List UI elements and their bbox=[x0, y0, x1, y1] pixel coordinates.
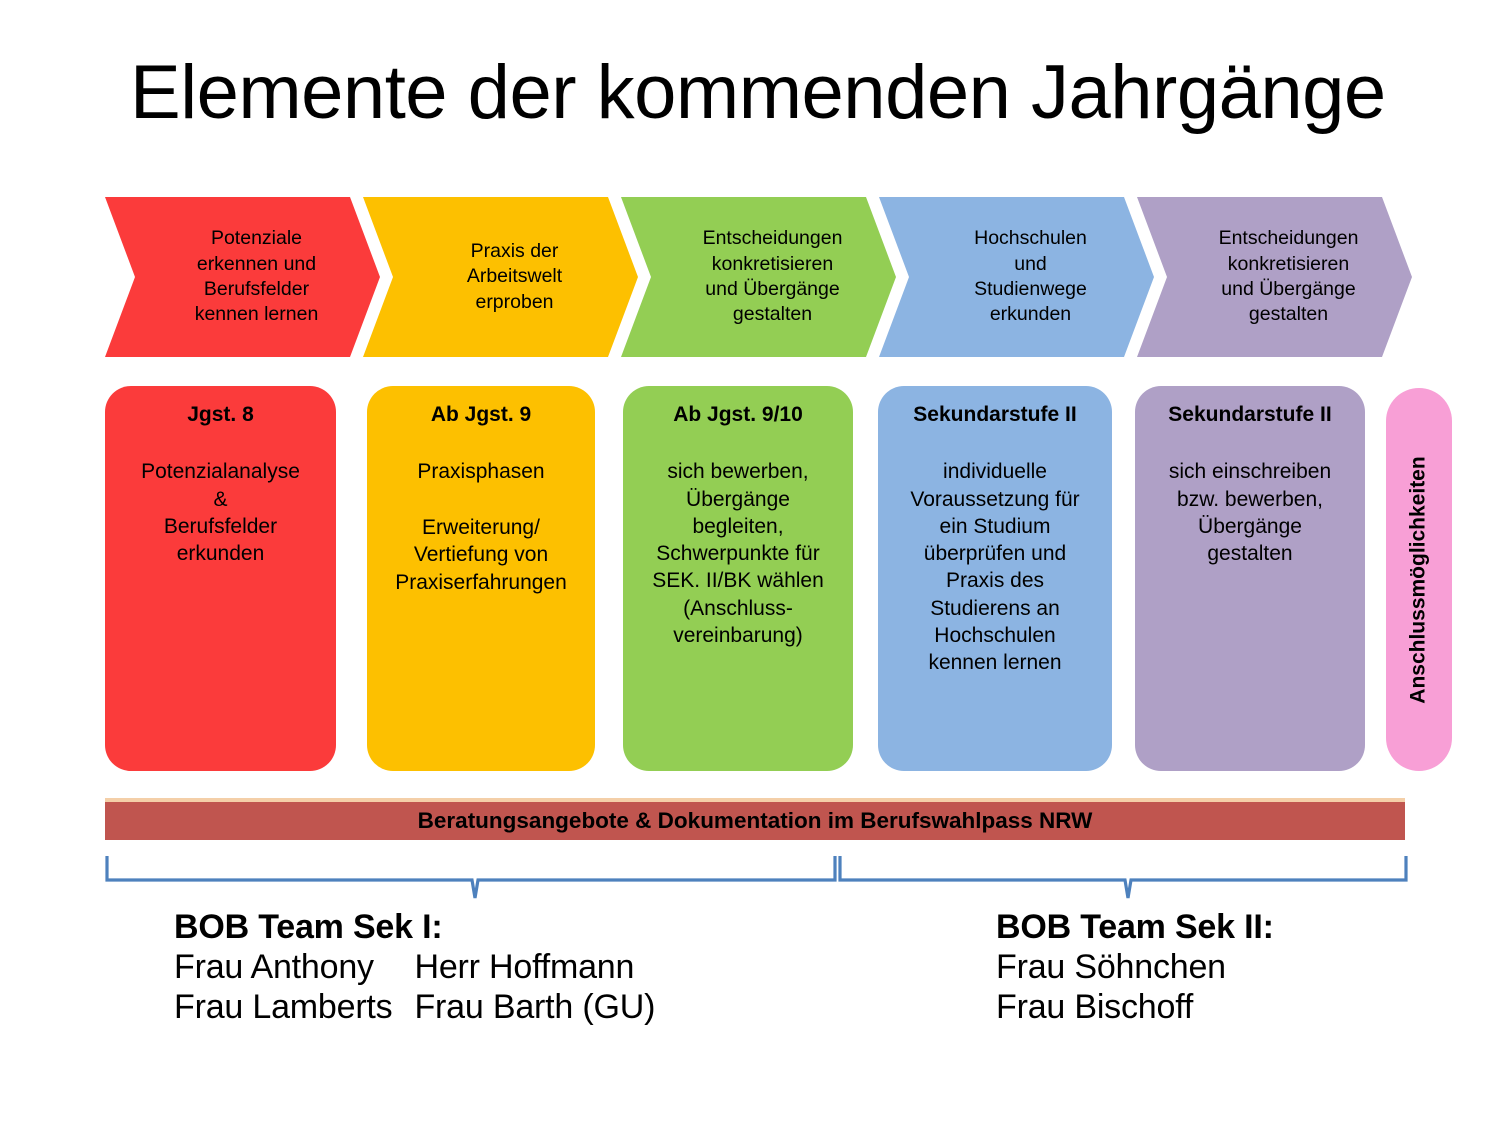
stage-box-1-body: Potenzialanalyse & Berufsfelder erkunden bbox=[115, 458, 326, 567]
stage-box-4-body: individuelle Voraussetzung für ein Studi… bbox=[888, 458, 1102, 676]
phase-arrow-3-label: Entscheidungen konkretisieren und Übergä… bbox=[669, 226, 849, 327]
stage-box-3-title: Ab Jgst. 9/10 bbox=[633, 402, 843, 428]
stage-box-1-title: Jgst. 8 bbox=[115, 402, 326, 428]
stage-box-1: Jgst. 8 Potenzialanalyse & Berufsfelder … bbox=[105, 386, 336, 771]
team-sek-1-title: BOB Team Sek I: bbox=[174, 908, 655, 947]
phase-arrow-5: Entscheidungen konkretisieren und Übergä… bbox=[1137, 197, 1412, 357]
team-sek-1-column-2: Herr Hoffmann Frau Barth (GU) bbox=[414, 947, 655, 1027]
stage-box-4: Sekundarstufe II individuelle Voraussetz… bbox=[878, 386, 1112, 771]
page-title: Elemente der kommenden Jahrgänge bbox=[130, 55, 1380, 131]
team-sek-2-title: BOB Team Sek II: bbox=[996, 908, 1274, 947]
stage-box-row: Jgst. 8 Potenzialanalyse & Berufsfelder … bbox=[105, 386, 1455, 771]
team-sek-1-column-1: Frau Anthony Frau Lamberts bbox=[174, 947, 392, 1027]
team-sek-1-members: Frau Anthony Frau Lamberts Herr Hoffmann… bbox=[174, 947, 655, 1027]
phase-arrow-4: Hochschulen und Studienwege erkunden bbox=[879, 197, 1154, 357]
phase-arrow-row: Potenziale erkennen und Berufsfelder ken… bbox=[105, 197, 1405, 357]
stage-box-3-body: sich bewerben, Übergänge begleiten, Schw… bbox=[633, 458, 843, 649]
phase-arrow-1: Potenziale erkennen und Berufsfelder ken… bbox=[105, 197, 380, 357]
stage-box-4-title: Sekundarstufe II bbox=[888, 402, 1102, 428]
stage-box-2-title: Ab Jgst. 9 bbox=[377, 402, 585, 428]
stage-box-2-body: Praxisphasen Erweiterung/ Vertiefung von… bbox=[377, 458, 585, 597]
phase-arrow-2: Praxis der Arbeitswelt erproben bbox=[363, 197, 638, 357]
team-sek-2-column-1: Frau Söhnchen Frau Bischoff bbox=[996, 947, 1226, 1027]
brace-sek-2 bbox=[836, 854, 1410, 900]
phase-arrow-2-label: Praxis der Arbeitswelt erproben bbox=[433, 239, 568, 315]
stage-box-5: Sekundarstufe II sich einschreiben bzw. … bbox=[1135, 386, 1365, 771]
phase-arrow-3: Entscheidungen konkretisieren und Übergä… bbox=[621, 197, 896, 357]
team-sek-1: BOB Team Sek I: Frau Anthony Frau Lamber… bbox=[174, 908, 655, 1027]
brace-sek-1 bbox=[103, 854, 839, 900]
stage-box-3: Ab Jgst. 9/10 sich bewerben, Übergänge b… bbox=[623, 386, 853, 771]
slide-canvas: Elemente der kommenden Jahrgänge Potenzi… bbox=[0, 0, 1500, 1125]
phase-arrow-5-label: Entscheidungen konkretisieren und Übergä… bbox=[1185, 226, 1365, 327]
stage-box-2: Ab Jgst. 9 Praxisphasen Erweiterung/ Ver… bbox=[367, 386, 595, 771]
beratungsangebote-bar: Beratungsangebote & Dokumentation im Ber… bbox=[105, 798, 1405, 840]
phase-arrow-1-label: Potenziale erkennen und Berufsfelder ken… bbox=[161, 226, 325, 327]
team-sek-2: BOB Team Sek II: Frau Söhnchen Frau Bisc… bbox=[996, 908, 1274, 1027]
phase-arrow-4-label: Hochschulen und Studienwege erkunden bbox=[940, 226, 1093, 327]
team-sek-2-members: Frau Söhnchen Frau Bischoff bbox=[996, 947, 1274, 1027]
stage-box-5-title: Sekundarstufe II bbox=[1145, 402, 1355, 428]
anschlussmoeglichkeiten-label: Anschlussmöglichkeiten bbox=[1407, 456, 1431, 703]
anschlussmoeglichkeiten-pill: Anschlussmöglichkeiten bbox=[1386, 388, 1452, 771]
stage-box-5-body: sich einschreiben bzw. bewerben, Übergän… bbox=[1145, 458, 1355, 567]
beratungsangebote-label: Beratungsangebote & Dokumentation im Ber… bbox=[418, 808, 1093, 834]
